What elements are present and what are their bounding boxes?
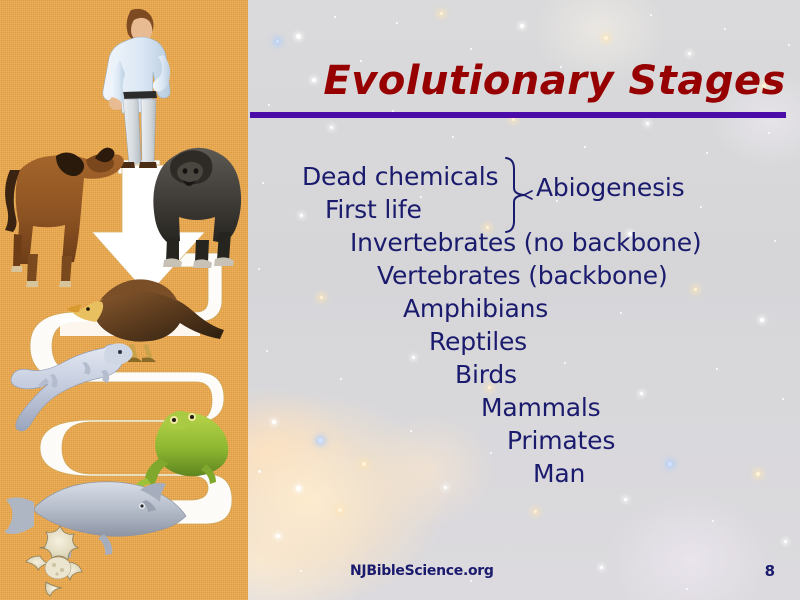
footer-source-site: NJBibleScience.org xyxy=(350,563,494,579)
stage-label: Dead chemicals xyxy=(302,162,498,191)
stage-label: Amphibians xyxy=(403,294,548,323)
bird-figure xyxy=(67,279,224,362)
stage-label: Mammals xyxy=(481,393,601,422)
frog-figure xyxy=(133,411,228,493)
stage-label: Vertebrates (backbone) xyxy=(377,261,668,290)
lizard-figure xyxy=(11,343,133,431)
list-item: Mammals xyxy=(255,391,785,424)
list-item: Primates xyxy=(255,424,785,457)
fish-figure xyxy=(4,482,186,558)
abiogenesis-group-label: Abiogenesis xyxy=(536,173,684,202)
stage-label: Birds xyxy=(455,360,517,389)
stage-label: Reptiles xyxy=(429,327,527,356)
list-item: Birds xyxy=(255,358,785,391)
presentation-slide: Evolutionary Stages Dead chemicals First… xyxy=(0,0,800,600)
stage-label: First life xyxy=(325,195,422,224)
man-figure xyxy=(103,9,170,168)
evolution-ladder-illustration xyxy=(0,0,248,600)
page-title: Evolutionary Stages xyxy=(250,58,786,104)
stage-label: Man xyxy=(533,459,585,488)
stage-label: Primates xyxy=(507,426,615,455)
list-item: Reptiles xyxy=(255,325,785,358)
footer-page-number: 8 xyxy=(735,562,775,580)
title-divider-rule xyxy=(250,112,786,118)
list-item: Amphibians xyxy=(255,292,785,325)
amoeba-figure xyxy=(26,526,82,596)
list-item: Vertebrates (backbone) xyxy=(255,259,785,292)
list-item: Man xyxy=(255,457,785,490)
grouping-brace-icon xyxy=(500,155,536,235)
horse-figure xyxy=(5,148,124,287)
